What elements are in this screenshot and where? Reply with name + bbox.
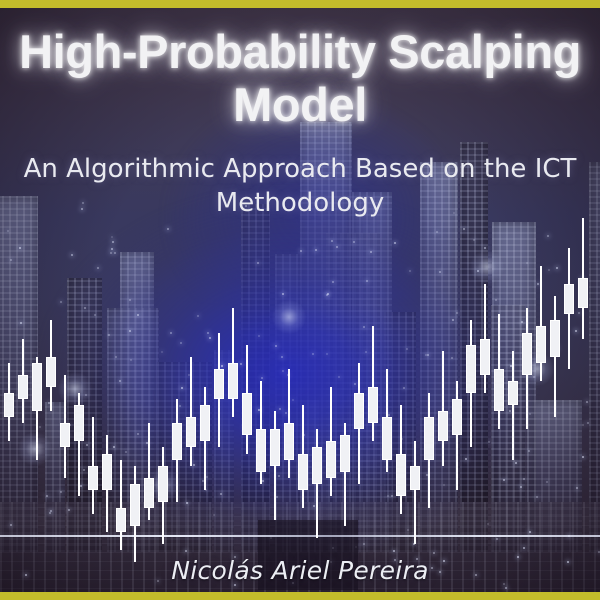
candlestick bbox=[130, 190, 140, 590]
candlestick bbox=[340, 190, 350, 590]
candlestick bbox=[508, 190, 518, 590]
candlestick bbox=[88, 190, 98, 590]
candlestick-wick bbox=[456, 381, 458, 490]
candlestick-body bbox=[424, 417, 434, 459]
candlestick bbox=[228, 190, 238, 590]
candlestick-wick bbox=[414, 441, 416, 544]
candlestick-body bbox=[578, 278, 588, 308]
candlestick-body bbox=[60, 423, 70, 447]
candlestick-body bbox=[382, 417, 392, 459]
candlestick bbox=[256, 190, 266, 590]
candlestick-wick bbox=[190, 357, 192, 466]
candlestick bbox=[270, 190, 280, 590]
candlestick-body bbox=[4, 393, 14, 417]
candlestick-body bbox=[116, 508, 126, 532]
candlestick-body bbox=[270, 429, 280, 465]
candlestick-body bbox=[158, 466, 168, 502]
candlestick bbox=[438, 190, 448, 590]
candlestick-body bbox=[144, 478, 154, 508]
candlestick bbox=[452, 190, 462, 590]
candlestick-body bbox=[354, 393, 364, 429]
page-subtitle: An Algorithmic Approach Based on the ICT… bbox=[0, 152, 600, 221]
candlestick-body bbox=[480, 339, 490, 375]
candlestick-wick bbox=[120, 460, 122, 551]
candlestick-body bbox=[74, 405, 84, 441]
candlestick bbox=[60, 190, 70, 590]
candlestick-body bbox=[242, 393, 252, 435]
candlestick-body bbox=[284, 423, 294, 459]
candlestick-body bbox=[508, 381, 518, 405]
candlestick bbox=[536, 190, 546, 590]
candlestick bbox=[578, 190, 588, 590]
candlestick-chart bbox=[0, 190, 600, 590]
author-name: Nicolás Ariel Pereira bbox=[0, 556, 600, 585]
candlestick bbox=[186, 190, 196, 590]
candlestick bbox=[354, 190, 364, 590]
candlestick-wick bbox=[274, 411, 276, 520]
candlestick bbox=[564, 190, 574, 590]
candlestick-body bbox=[326, 441, 336, 477]
candlestick-body bbox=[536, 326, 546, 362]
page-title: High-Probability Scalping Model bbox=[0, 26, 600, 131]
candlestick bbox=[480, 190, 490, 590]
candlestick-wick bbox=[540, 266, 542, 381]
candlestick bbox=[312, 190, 322, 590]
candlestick-body bbox=[256, 429, 266, 471]
candlestick-body bbox=[396, 454, 406, 496]
candlestick bbox=[32, 190, 42, 590]
candlestick-body bbox=[172, 423, 182, 459]
candlestick-body bbox=[18, 375, 28, 399]
candlestick bbox=[424, 190, 434, 590]
candlestick bbox=[214, 190, 224, 590]
candlestick-body bbox=[298, 454, 308, 490]
candlestick-body bbox=[46, 357, 56, 387]
candlestick-wick bbox=[442, 351, 444, 466]
candlestick-body bbox=[452, 399, 462, 435]
candlestick bbox=[396, 190, 406, 590]
candlestick bbox=[172, 190, 182, 590]
candlestick-body bbox=[228, 363, 238, 399]
candlestick bbox=[382, 190, 392, 590]
candlestick-body bbox=[550, 320, 560, 356]
candlestick-body bbox=[466, 345, 476, 393]
candlestick bbox=[522, 190, 532, 590]
candlestick-body bbox=[200, 405, 210, 441]
candlestick bbox=[116, 190, 126, 590]
candlestick bbox=[494, 190, 504, 590]
candlestick bbox=[158, 190, 168, 590]
candlestick bbox=[102, 190, 112, 590]
top-accent-bar bbox=[0, 0, 600, 8]
candlestick bbox=[144, 190, 154, 590]
candlestick-body bbox=[214, 369, 224, 399]
candlestick-body bbox=[312, 447, 322, 483]
candlestick-body bbox=[130, 484, 140, 526]
candlestick-body bbox=[368, 387, 378, 423]
candlestick-body bbox=[564, 284, 574, 314]
candlestick-body bbox=[186, 417, 196, 447]
candlestick-body bbox=[102, 454, 112, 490]
candlestick bbox=[74, 190, 84, 590]
bottom-accent-bar bbox=[0, 592, 600, 600]
candlestick bbox=[284, 190, 294, 590]
candlestick bbox=[326, 190, 336, 590]
candlestick bbox=[242, 190, 252, 590]
candlestick bbox=[410, 190, 420, 590]
candlestick bbox=[466, 190, 476, 590]
candlestick bbox=[200, 190, 210, 590]
candlestick-wick bbox=[512, 351, 514, 460]
candlestick bbox=[368, 190, 378, 590]
candlestick bbox=[550, 190, 560, 590]
candlestick bbox=[298, 190, 308, 590]
candlestick bbox=[18, 190, 28, 590]
candlestick-body bbox=[88, 466, 98, 490]
candlestick bbox=[4, 190, 14, 590]
candlestick-body bbox=[522, 333, 532, 375]
candlestick-body bbox=[494, 369, 504, 411]
candlestick-body bbox=[438, 411, 448, 441]
book-cover: High-Probability Scalping Model An Algor… bbox=[0, 0, 600, 600]
candlestick-wick bbox=[372, 326, 374, 441]
candlestick bbox=[46, 190, 56, 590]
candlestick-body bbox=[340, 435, 350, 471]
candlestick-body bbox=[410, 466, 420, 490]
candlestick-body bbox=[32, 363, 42, 411]
